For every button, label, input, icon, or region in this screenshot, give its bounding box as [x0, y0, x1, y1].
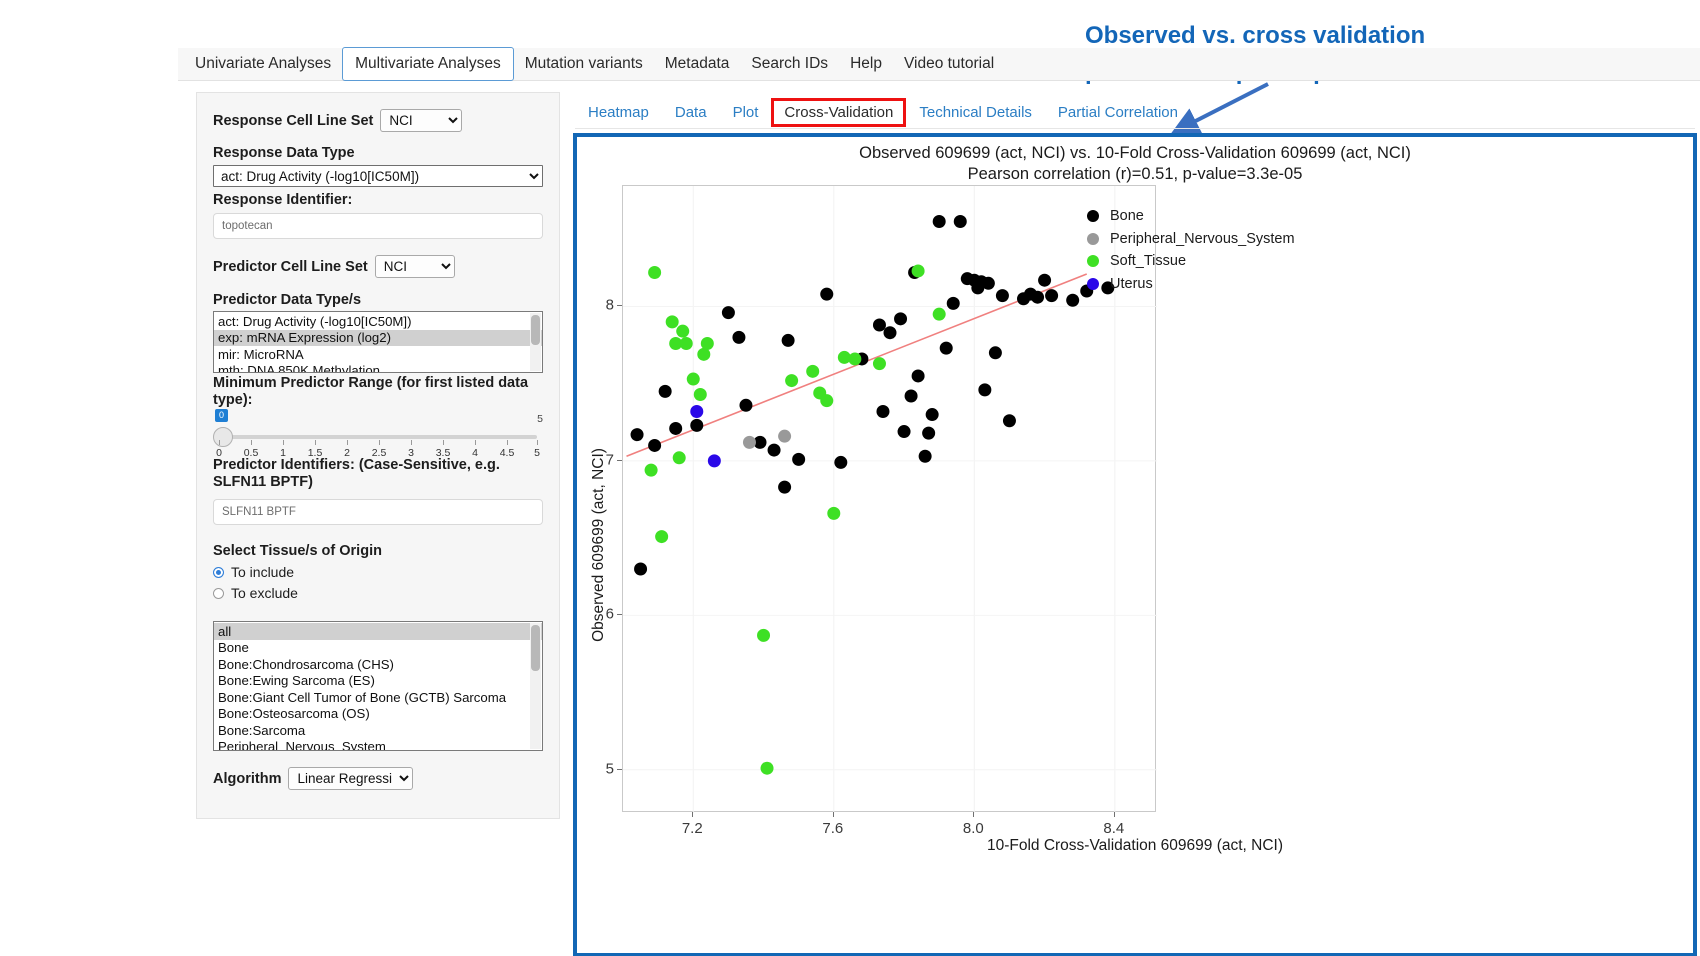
data-point [1031, 291, 1044, 304]
data-point [982, 277, 995, 290]
tissue-option-osteosarcoma[interactable]: Bone:Osteosarcoma (OS) [214, 706, 542, 723]
x-axis-label: 10-Fold Cross-Validation 609699 (act, NC… [577, 837, 1693, 855]
y-tick-mark [617, 460, 622, 461]
slider-tick-5: 2.5 [372, 447, 387, 459]
nav-tab-help[interactable]: Help [839, 47, 893, 81]
data-point [722, 306, 735, 319]
predictor-identifiers-input[interactable] [213, 499, 543, 525]
nav-tab-multivariate-analyses[interactable]: Multivariate Analyses [342, 47, 514, 81]
y-tick-label: 8 [587, 297, 614, 314]
algorithm-label: Algorithm [213, 771, 281, 787]
min-predictor-range-value: 0 [215, 409, 228, 422]
slider-tick-3: 1.5 [308, 447, 323, 459]
slider-tick-1: 0.5 [244, 447, 259, 459]
y-tick-mark [617, 305, 622, 306]
slider-tick-6: 3 [408, 447, 414, 459]
tissue-option-chondrosarcoma[interactable]: Bone:Chondrosarcoma (CHS) [214, 656, 542, 673]
data-point [648, 266, 661, 279]
legend-dot-pns-icon [1087, 233, 1099, 245]
result-subtabs: Heatmap Data Plot Cross-Validation Techn… [575, 96, 1695, 128]
subtab-data[interactable]: Data [662, 100, 720, 125]
plot-title: Observed 609699 (act, NCI) vs. 10-Fold C… [577, 143, 1693, 164]
x-tick-mark [833, 812, 834, 817]
data-point [687, 373, 700, 386]
data-point [634, 562, 647, 575]
subtab-plot[interactable]: Plot [720, 100, 772, 125]
plot-canvas [622, 185, 1156, 812]
data-point [743, 436, 756, 449]
response-identifier-label: Response Identifier: [213, 192, 543, 208]
nav-tab-mutation-variants[interactable]: Mutation variants [514, 47, 654, 81]
data-point [659, 385, 672, 398]
data-point [1038, 274, 1051, 287]
response-cell-line-set-label: Response Cell Line Set [213, 113, 373, 129]
data-point [894, 312, 907, 325]
radio-include-icon[interactable] [213, 567, 224, 578]
data-point [785, 374, 798, 387]
predictor-cell-line-set-label: Predictor Cell Line Set [213, 259, 368, 275]
radio-include-label: To include [231, 564, 294, 580]
data-point [933, 215, 946, 228]
data-point [761, 762, 774, 775]
data-point [820, 394, 833, 407]
data-point [1003, 414, 1016, 427]
tissue-radio-include[interactable]: To include [213, 564, 543, 580]
algorithm-row: Algorithm Linear Regression [213, 767, 543, 790]
data-point [848, 352, 861, 365]
predictor-data-types-scrollbar[interactable] [530, 313, 541, 371]
x-tick-label: 8.0 [963, 820, 984, 837]
nav-tab-univariate-analyses[interactable]: Univariate Analyses [184, 47, 342, 81]
controls-sidebar: Response Cell Line Set NCI Response Data… [196, 92, 560, 819]
predictor-data-type-option-mir[interactable]: mir: MicroRNA [214, 346, 542, 363]
data-point [697, 348, 710, 361]
data-point [676, 325, 689, 338]
response-cell-line-set-row: Response Cell Line Set NCI [213, 109, 543, 132]
data-point [873, 318, 886, 331]
legend-dot-soft-tissue-icon [1087, 255, 1099, 267]
slider-tick-8: 4 [472, 447, 478, 459]
slider-tick-4: 2 [344, 447, 350, 459]
predictor-cell-line-set-select[interactable]: NCI [375, 255, 455, 278]
response-data-type-select[interactable]: act: Drug Activity (-log10[IC50M]) [213, 165, 543, 187]
predictor-data-type-option-act[interactable]: act: Drug Activity (-log10[IC50M]) [214, 313, 542, 330]
data-point [876, 405, 889, 418]
y-tick-mark [617, 614, 622, 615]
legend-item-uterus[interactable]: Uterus [1087, 273, 1295, 296]
plot-title-block: Observed 609699 (act, NCI) vs. 10-Fold C… [577, 143, 1693, 185]
x-tick-mark [1114, 812, 1115, 817]
data-point [680, 337, 693, 350]
nav-tab-metadata[interactable]: Metadata [654, 47, 741, 81]
data-point [898, 425, 911, 438]
legend-label-bone: Bone [1110, 208, 1144, 224]
legend-label-pns: Peripheral_Nervous_System [1110, 231, 1295, 247]
response-identifier-input[interactable] [213, 213, 543, 239]
data-point [1066, 294, 1079, 307]
data-point [739, 399, 752, 412]
data-point [645, 464, 658, 477]
data-point [884, 326, 897, 339]
tissue-option-bone-sarcoma[interactable]: Bone:Sarcoma [214, 722, 542, 739]
data-point [694, 388, 707, 401]
data-point [690, 405, 703, 418]
data-point [905, 390, 918, 403]
scatter-svg [623, 186, 1157, 813]
data-point [827, 507, 840, 520]
nav-tab-video-tutorial[interactable]: Video tutorial [893, 47, 1005, 81]
legend-label-uterus: Uterus [1110, 276, 1153, 292]
data-point [989, 346, 1002, 359]
tissue-option-bone[interactable]: Bone [214, 640, 542, 657]
response-cell-line-set-select[interactable]: NCI [380, 109, 462, 132]
cross-validation-plot-panel: Observed 609699 (act, NCI) vs. 10-Fold C… [573, 133, 1697, 956]
data-point [926, 408, 939, 421]
data-point [648, 439, 661, 452]
data-point [666, 315, 679, 328]
predictor-data-types-label: Predictor Data Type/s [213, 292, 543, 308]
y-tick-label: 5 [587, 760, 614, 777]
slider-tick-9: 4.5 [500, 447, 515, 459]
response-data-type-label: Response Data Type [213, 145, 543, 161]
x-tick-label: 7.6 [822, 820, 843, 837]
legend-dot-bone-icon [1087, 210, 1099, 222]
predictor-data-types-listbox[interactable]: act: Drug Activity (-log10[IC50M]) exp: … [213, 311, 543, 373]
legend-item-peripheral-nervous-system[interactable]: Peripheral_Nervous_System [1087, 228, 1295, 251]
min-predictor-range-label: Minimum Predictor Range (for first liste… [213, 375, 543, 409]
tissue-radio-exclude[interactable]: To exclude [213, 585, 543, 601]
subtabs-divider [575, 128, 1695, 129]
x-tick-label: 7.2 [682, 820, 703, 837]
data-point [673, 451, 686, 464]
tissue-option-gctb-sarcoma[interactable]: Bone:Giant Cell Tumor of Bone (GCTB) Sar… [214, 689, 542, 706]
algorithm-select[interactable]: Linear Regression [288, 767, 413, 790]
data-point [922, 427, 935, 440]
legend-dot-uterus-icon [1087, 278, 1099, 290]
data-point [820, 288, 833, 301]
predictor-data-type-option-mth[interactable]: mth: DNA 850K Methylation [214, 363, 542, 374]
tissue-option-all[interactable]: all [214, 623, 542, 640]
subtab-technical-details[interactable]: Technical Details [906, 100, 1045, 125]
predictor-data-type-option-exp[interactable]: exp: mRNA Expression (log2) [214, 330, 542, 347]
tissue-option-ewing-sarcoma[interactable]: Bone:Ewing Sarcoma (ES) [214, 673, 542, 690]
legend-item-soft-tissue[interactable]: Soft_Tissue [1087, 250, 1295, 273]
data-point [834, 456, 847, 469]
tissue-section-label: Select Tissue/s of Origin [213, 543, 543, 559]
plot-subtitle: Pearson correlation (r)=0.51, p-value=3.… [577, 164, 1693, 185]
y-tick-label: 7 [587, 451, 614, 468]
predictor-cell-line-set-row: Predictor Cell Line Set NCI [213, 255, 543, 278]
data-point [996, 289, 1009, 302]
slider-tick-10: 5 [534, 447, 540, 459]
y-tick-label: 6 [587, 606, 614, 623]
data-point [873, 357, 886, 370]
y-tick-mark [617, 769, 622, 770]
data-point [954, 215, 967, 228]
slider-tick-2: 1 [280, 447, 286, 459]
x-tick-mark [692, 812, 693, 817]
data-point [978, 383, 991, 396]
data-point [940, 342, 953, 355]
radio-exclude-label: To exclude [231, 585, 298, 601]
data-point [669, 422, 682, 435]
legend-label-soft-tissue: Soft_Tissue [1110, 253, 1186, 269]
min-predictor-range-slider[interactable]: 0 5 0 0.5 1 1.5 2 2.5 3 3.5 4 [213, 413, 543, 457]
data-point [690, 419, 703, 432]
subtab-partial-correlation[interactable]: Partial Correlation [1045, 100, 1191, 125]
data-point [782, 334, 795, 347]
data-point [912, 264, 925, 277]
data-point [708, 454, 721, 467]
nav-tab-search-ids[interactable]: Search IDs [740, 47, 839, 81]
data-point [792, 453, 805, 466]
min-predictor-range-max: 5 [537, 413, 543, 425]
data-point [1045, 289, 1058, 302]
data-point [912, 369, 925, 382]
data-point [732, 331, 745, 344]
tissue-option-peripheral-nervous-system[interactable]: Peripheral_Nervous_System [214, 739, 542, 752]
x-tick-label: 8.4 [1103, 820, 1124, 837]
main-nav: Univariate Analyses Multivariate Analyse… [178, 48, 1700, 81]
data-point [757, 629, 770, 642]
data-point [778, 430, 791, 443]
tissue-listbox-scrollbar[interactable] [530, 623, 541, 749]
subtab-heatmap[interactable]: Heatmap [575, 100, 662, 125]
slider-tick-0: 0 [216, 447, 222, 459]
data-point [806, 365, 819, 378]
slider-tick-labels: 0 0.5 1 1.5 2 2.5 3 3.5 4 4.5 5 [213, 447, 543, 461]
app-root: Observed vs. cross validation predicted … [0, 0, 1700, 956]
data-point [778, 481, 791, 494]
radio-exclude-icon[interactable] [213, 588, 224, 599]
slider-track [219, 435, 537, 439]
predictor-identifiers-label: Predictor Identifiers: (Case-Sensitive, … [213, 457, 543, 491]
data-point [655, 530, 668, 543]
data-point [631, 428, 644, 441]
slider-tick-7: 3.5 [436, 447, 451, 459]
data-point [947, 297, 960, 310]
data-point [768, 444, 781, 457]
data-point [933, 308, 946, 321]
legend-item-bone[interactable]: Bone [1087, 205, 1295, 228]
data-point [919, 450, 932, 463]
plot-legend: Bone Peripheral_Nervous_System Soft_Tiss… [1087, 205, 1295, 295]
x-tick-mark [973, 812, 974, 817]
tissue-listbox[interactable]: all Bone Bone:Chondrosarcoma (CHS) Bone:… [213, 621, 543, 751]
subtab-cross-validation[interactable]: Cross-Validation [771, 98, 906, 127]
